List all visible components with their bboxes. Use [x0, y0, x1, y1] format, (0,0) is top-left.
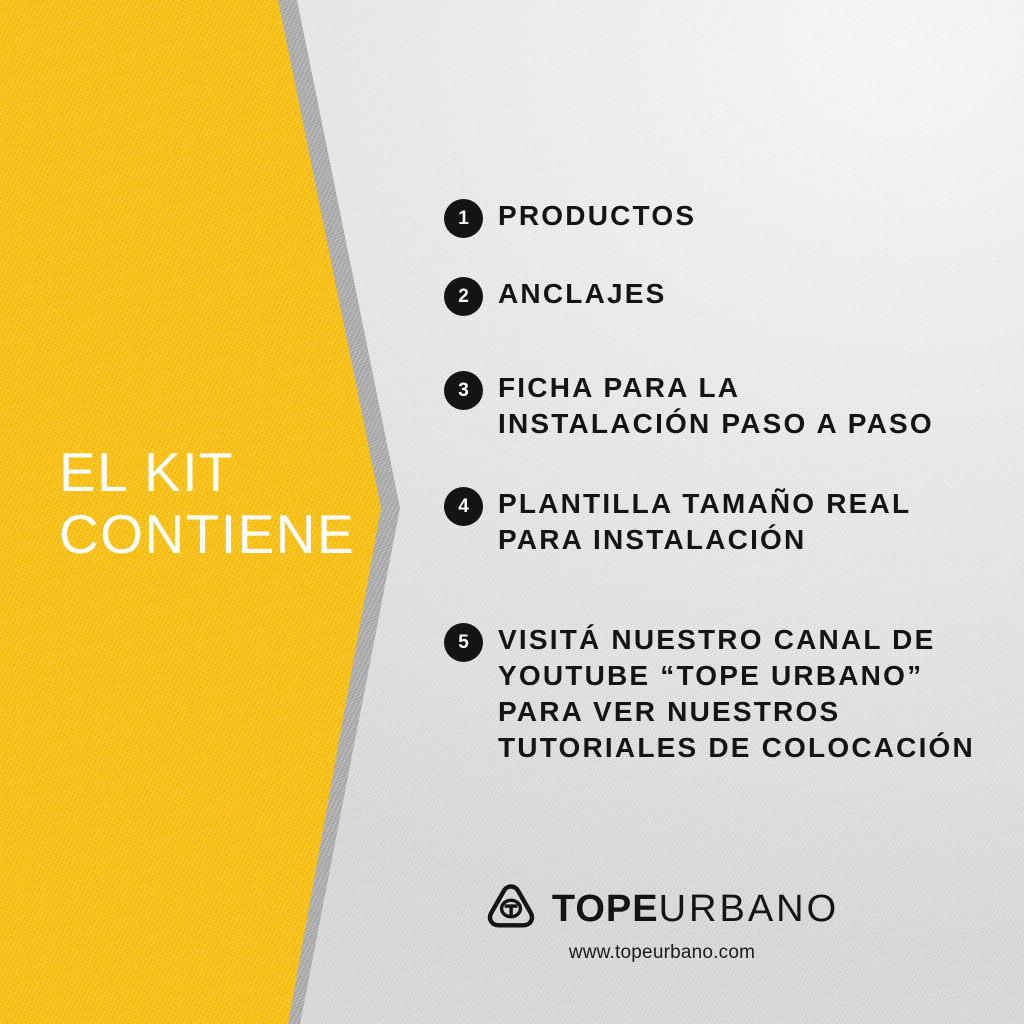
list-item-label: PLANTILLA TAMAÑO REAL PARA INSTALACIÓN	[498, 484, 984, 558]
list-item-number-badge: 3	[444, 371, 483, 410]
list-item: 2 ANCLAJES	[444, 274, 984, 312]
kit-contents-list: 1 PRODUCTOS 2 ANCLAJES 3 FICHA PARA LA I…	[444, 196, 984, 766]
list-item-number-badge: 5	[444, 623, 483, 662]
list-item-number-badge: 2	[444, 277, 483, 316]
list-item-label: ANCLAJES	[498, 274, 984, 312]
brand-wordmark: TOPE URBANO	[552, 889, 839, 929]
footer-branding: TOPE URBANO www.topeurbano.com	[0, 882, 1024, 964]
list-item: 4 PLANTILLA TAMAÑO REAL PARA INSTALACIÓN	[444, 484, 984, 558]
list-item: 1 PRODUCTOS	[444, 196, 984, 234]
list-item: 5 VISITÁ NUESTRO CANAL DE YOUTUBE “TOPE …	[444, 620, 984, 766]
brand-name-primary: TOPE	[552, 889, 659, 929]
page-title: EL KIT CONTIENE	[59, 441, 359, 565]
website-url: www.topeurbano.com	[569, 942, 755, 964]
poster-canvas: EL KIT CONTIENE 1 PRODUCTOS 2 ANCLAJES 3…	[0, 0, 1024, 1024]
rounded-triangle-t-icon	[485, 882, 537, 935]
list-item: 3 FICHA PARA LA INSTALACIÓN PASO A PASO	[444, 368, 984, 442]
brand-name-secondary: URBANO	[659, 889, 840, 929]
list-item-number-badge: 1	[444, 199, 483, 238]
list-item-label: PRODUCTOS	[498, 196, 984, 234]
list-item-label: VISITÁ NUESTRO CANAL DE YOUTUBE “TOPE UR…	[498, 620, 984, 766]
list-item-number-badge: 4	[444, 487, 483, 526]
logo-lockup: TOPE URBANO	[485, 882, 839, 935]
list-item-label: FICHA PARA LA INSTALACIÓN PASO A PASO	[498, 368, 984, 442]
